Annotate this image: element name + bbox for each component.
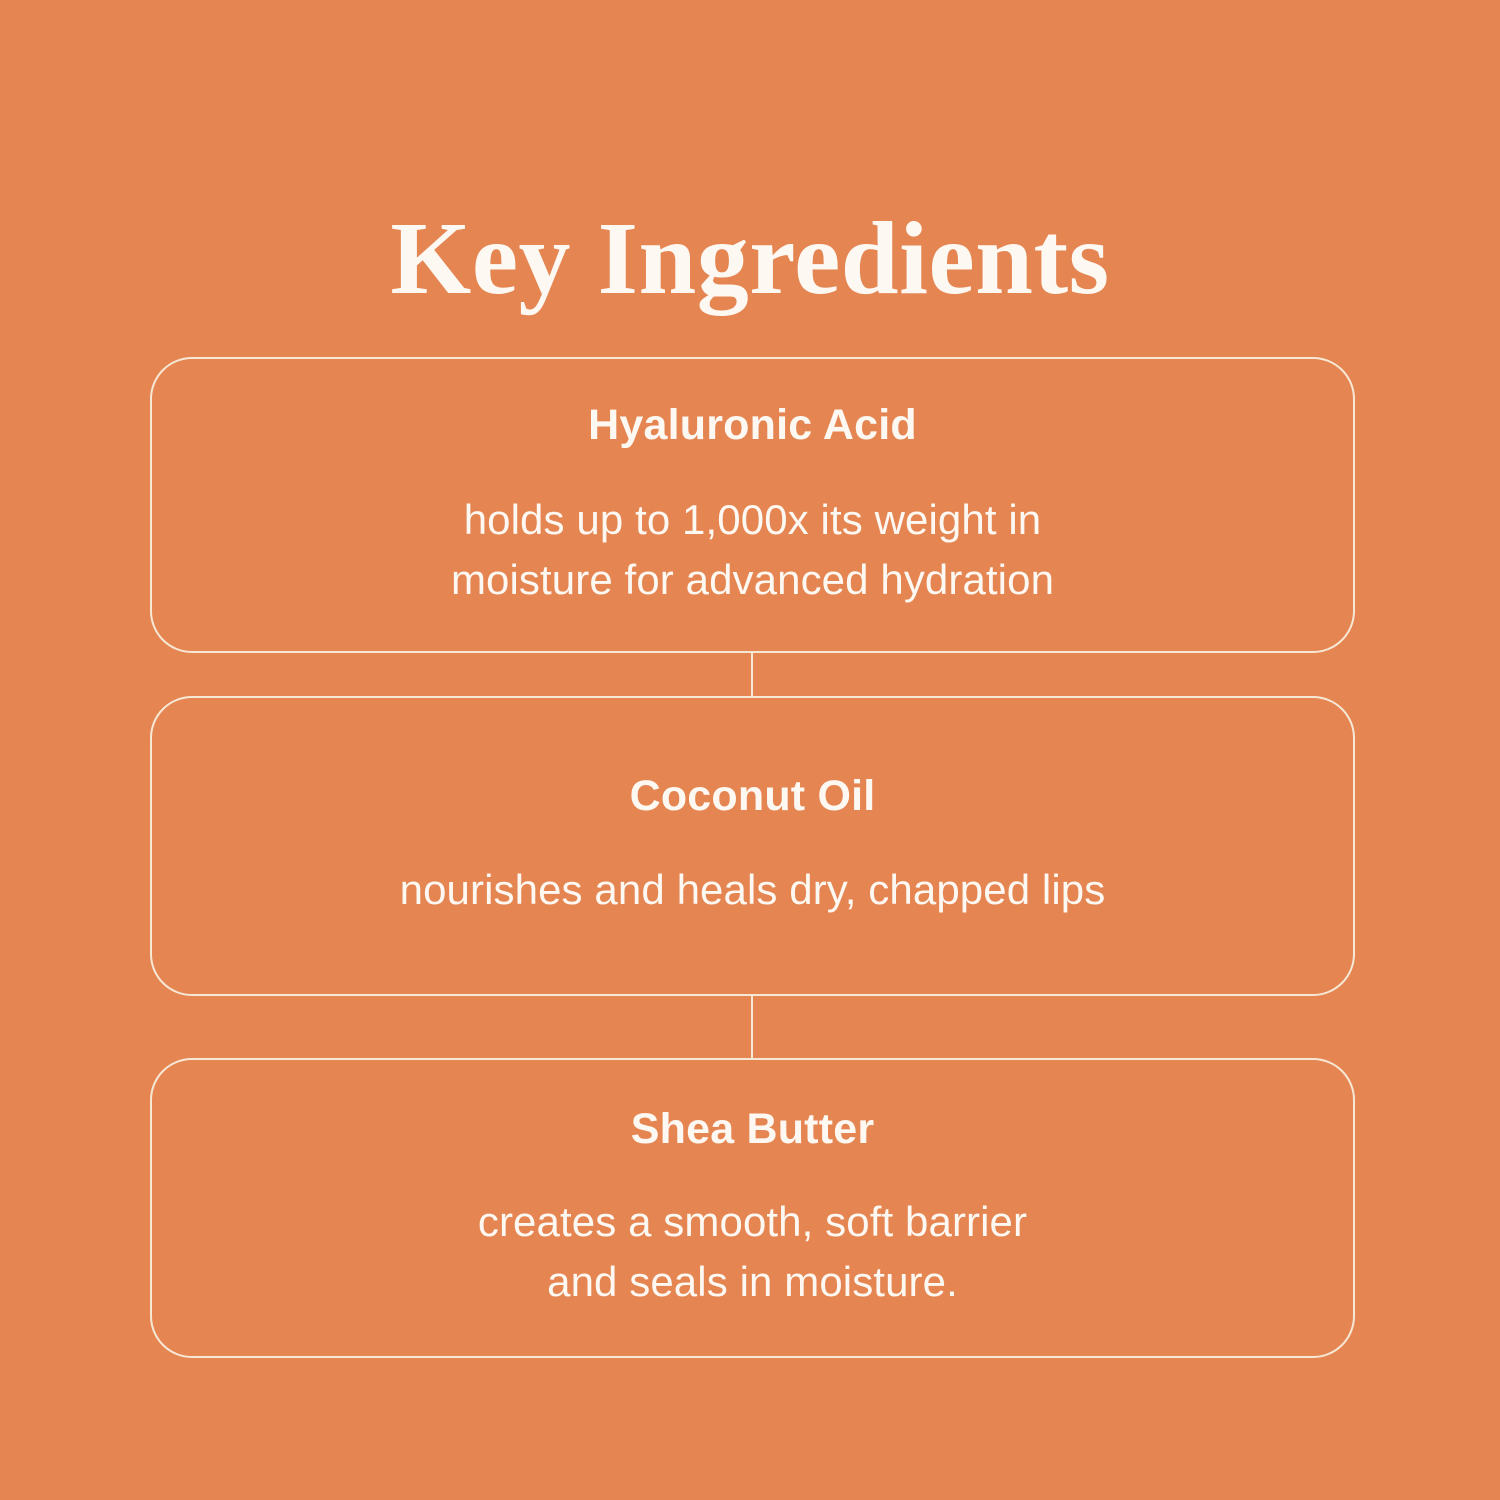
ingredient-card-description: creates a smooth, soft barrier and seals… xyxy=(478,1192,1027,1311)
ingredient-card-shea-butter: Shea Butter creates a smooth, soft barri… xyxy=(150,1058,1355,1358)
ingredient-card-coconut-oil: Coconut Oil nourishes and heals dry, cha… xyxy=(150,696,1355,996)
ingredient-card-description: holds up to 1,000x its weight in moistur… xyxy=(451,490,1054,609)
ingredient-card-title: Hyaluronic Acid xyxy=(588,401,917,450)
ingredient-card-description: nourishes and heals dry, chapped lips xyxy=(400,860,1106,920)
ingredient-card-title: Coconut Oil xyxy=(630,772,876,821)
ingredient-card-title: Shea Butter xyxy=(631,1105,875,1154)
key-ingredients-infographic: Key Ingredients Hyaluronic Acid holds up… xyxy=(0,0,1500,1500)
card-connector-line xyxy=(751,653,753,697)
card-connector-line xyxy=(751,996,753,1059)
ingredient-card-hyaluronic-acid: Hyaluronic Acid holds up to 1,000x its w… xyxy=(150,357,1355,653)
page-title: Key Ingredients xyxy=(0,207,1500,311)
